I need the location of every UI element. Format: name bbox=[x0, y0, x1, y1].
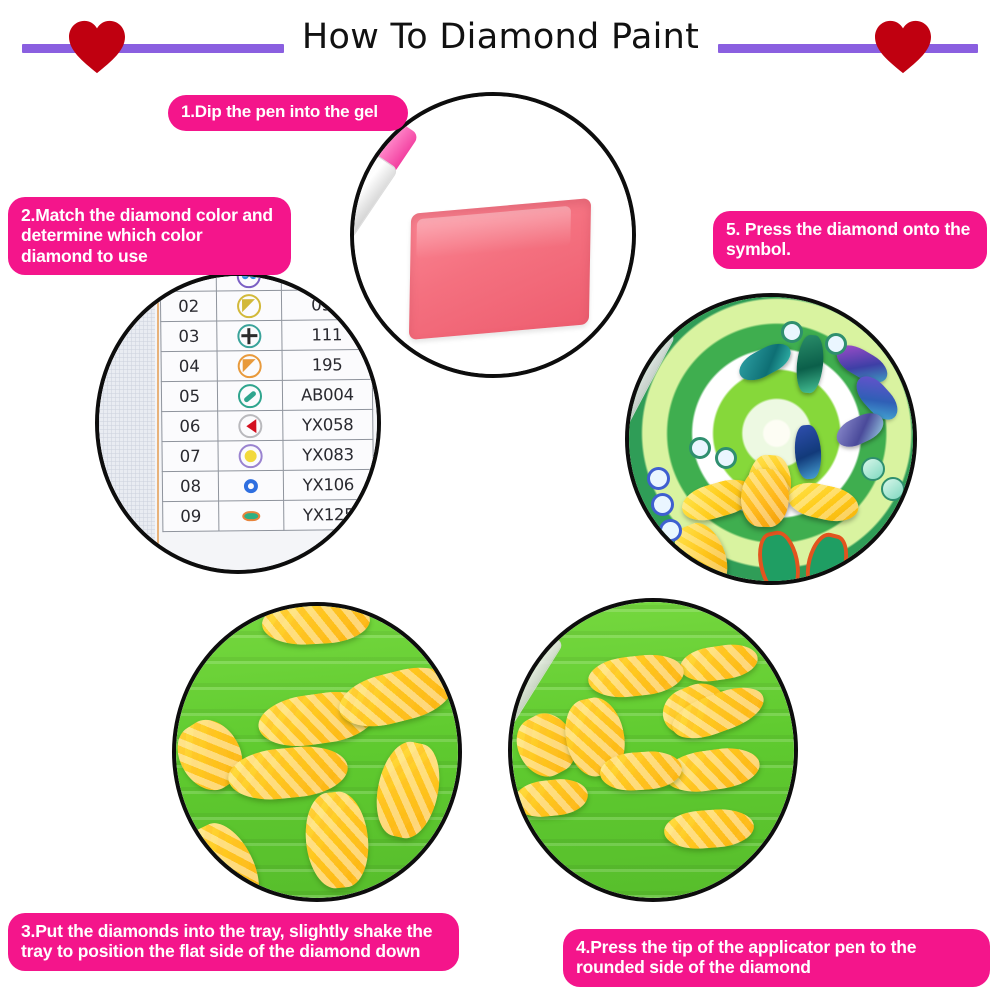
legend-number bbox=[160, 276, 216, 292]
photo-pen-in-gel bbox=[350, 92, 636, 378]
legend-row: 05AB004 bbox=[161, 379, 372, 411]
legend-symbol-cell bbox=[218, 410, 283, 441]
photo-diamond-onto-symbol bbox=[625, 293, 917, 585]
legend-symbol-triangle-icon bbox=[237, 294, 261, 318]
legend-code: 093 bbox=[281, 289, 371, 320]
legend-code: 111 bbox=[282, 319, 372, 350]
legend-symbol-slash-icon bbox=[238, 384, 262, 408]
legend-number: 03 bbox=[161, 321, 217, 352]
legend-row: 02093 bbox=[160, 289, 371, 321]
step-3-label: 3.Put the diamonds into the tray, slight… bbox=[8, 913, 459, 971]
canvas-edge-line bbox=[157, 276, 159, 570]
canvas-fabric bbox=[99, 276, 155, 570]
legend-symbol-arrow-icon bbox=[238, 414, 262, 438]
legend-number: 08 bbox=[162, 471, 218, 502]
legend-symbol-cell bbox=[217, 350, 282, 381]
legend-code: AB004 bbox=[282, 379, 372, 410]
legend-code: YX058 bbox=[283, 409, 373, 440]
legend-row: 03111 bbox=[161, 319, 372, 351]
step-1-label: 1.Dip the pen into the gel bbox=[168, 95, 408, 131]
legend-code: 195 bbox=[282, 349, 372, 380]
photo-color-chart: 02002093031110419505AB00406YX05807YX0830… bbox=[95, 272, 381, 574]
infographic-canvas: How To Diamond Paint 02002093031110 bbox=[0, 0, 1001, 1001]
legend-symbol-triangle-icon bbox=[238, 354, 262, 378]
photo-pen-picks-diamond bbox=[508, 598, 798, 902]
photo-diamonds-in-tray bbox=[172, 602, 462, 902]
legend-symbol-cell bbox=[218, 440, 283, 471]
step-2-label: 2.Match the diamond color and determine … bbox=[8, 197, 291, 275]
legend-number: 06 bbox=[162, 411, 218, 442]
legend-code: YX106 bbox=[283, 469, 373, 500]
gel-pad bbox=[409, 198, 591, 340]
legend-symbol-cell bbox=[217, 290, 282, 321]
legend-symbol-cell bbox=[218, 380, 283, 411]
legend-code: YX125 bbox=[283, 499, 373, 530]
legend-number: 09 bbox=[163, 501, 219, 532]
legend-symbol-leaf-icon bbox=[239, 504, 263, 528]
legend-number: 07 bbox=[162, 441, 218, 472]
legend-symbol-cell bbox=[219, 500, 284, 531]
legend-row: 09YX125 bbox=[163, 499, 374, 531]
legend-symbol-cell bbox=[217, 320, 282, 351]
legend-symbol-plus-icon bbox=[237, 324, 261, 348]
legend-row: 04195 bbox=[161, 349, 372, 381]
legend-symbol-cell bbox=[218, 470, 283, 501]
legend-row: 07YX083 bbox=[162, 439, 373, 471]
step-5-label: 5. Press the diamond onto the symbol. bbox=[713, 211, 987, 269]
legend-number: 04 bbox=[161, 351, 217, 382]
color-legend-table: 02002093031110419505AB00406YX05807YX0830… bbox=[160, 276, 375, 532]
step-4-label: 4.Press the tip of the applicator pen to… bbox=[563, 929, 990, 987]
legend-symbol-oo-icon bbox=[237, 276, 261, 288]
legend-number: 05 bbox=[161, 381, 217, 412]
legend-code: 020 bbox=[281, 276, 371, 290]
legend-number: 02 bbox=[160, 291, 216, 322]
legend-code: YX083 bbox=[283, 439, 373, 470]
legend-symbol-cell bbox=[216, 276, 281, 291]
legend-row: 08YX106 bbox=[162, 469, 373, 501]
page-title: How To Diamond Paint bbox=[0, 17, 1001, 57]
legend-row: 06YX058 bbox=[162, 409, 373, 441]
legend-symbol-dot-icon bbox=[239, 444, 263, 468]
legend-symbol-ring-icon bbox=[239, 474, 263, 498]
